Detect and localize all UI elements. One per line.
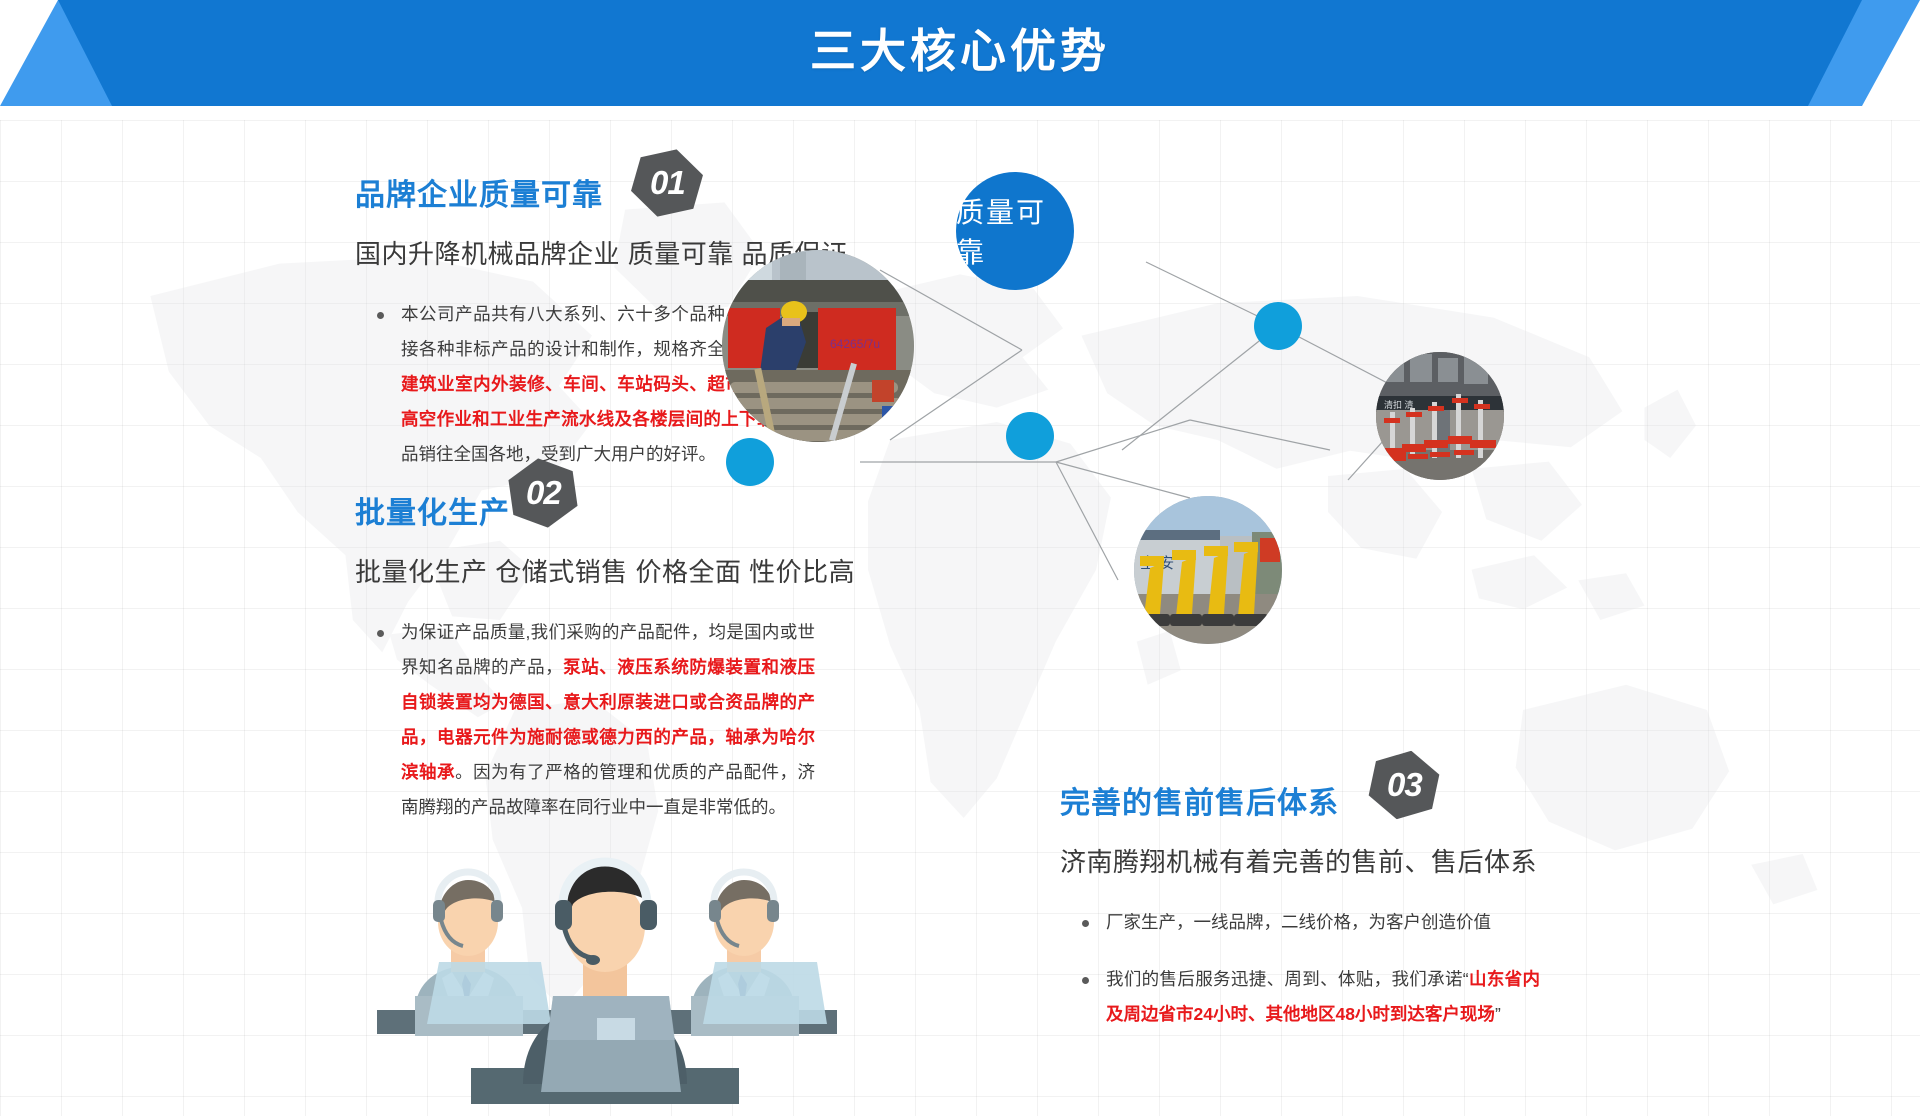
feature-01-subtitle: 国内升降机械品牌企业 质量可靠 品质保证 [355, 234, 815, 271]
photo-yellow-boom-lifts: 全 安 [1134, 496, 1282, 644]
feature-03-subtitle: 济南腾翔机械有着完善的售前、售后体系 [1060, 842, 1540, 879]
node-left-dot [726, 438, 774, 486]
page-root: 三大核心优势 品牌企业质量可靠 01 国内升降机械品牌企业 质量可靠 品质保证 … [0, 0, 1920, 1116]
agent-right [691, 872, 827, 1036]
feature-03-title: 完善的售前售后体系 [1060, 778, 1339, 822]
feature-02-bullets: 为保证产品质量,我们采购的产品配件，均是国内或世界知名品牌的产品，泵站、液压系统… [355, 615, 815, 825]
photo-factory-worker-cutting-machine: 64265/7u [722, 250, 914, 442]
list-item: 厂家生产，一线品牌，二线价格，为客户创造价值 [1060, 905, 1540, 940]
feature-block-02: 批量化生产 02 批量化生产 仓储式销售 价格全面 性价比高 为保证产品质量,我… [355, 488, 815, 847]
customer-service-illustration [355, 800, 855, 1116]
node-mid-dot [1006, 412, 1054, 460]
network-diagram: 质量可靠 64265/7u [860, 150, 1600, 730]
feature-01-badge-number: 01 [650, 164, 685, 202]
feature-02-badge-number: 02 [526, 474, 561, 512]
feature-01-title: 品牌企业质量可靠 [355, 170, 603, 214]
node-quality-label: 质量可靠 [956, 191, 1074, 271]
feature-03-bullets: 厂家生产，一线品牌，二线价格，为客户创造价值 我们的售后服务迅捷、周到、体贴，我… [1060, 905, 1540, 1032]
svg-text:64265/7u: 64265/7u [830, 337, 880, 351]
agent-left [415, 872, 551, 1036]
feature-01-badge: 01 [623, 139, 712, 226]
feature-02-title: 批量化生产 [355, 488, 510, 532]
agent-center [523, 862, 687, 1092]
body-text: ” [1495, 1004, 1501, 1024]
body-text: 我们的售后服务迅捷、周到、体贴，我们承诺“ [1106, 969, 1469, 989]
feature-03-badge: 03 [1362, 743, 1447, 826]
photo-red-lifts-storefront: 清扣 清 [1376, 352, 1504, 480]
feature-02-head: 批量化生产 02 [355, 488, 815, 542]
feature-03-badge-number: 03 [1387, 766, 1422, 804]
feature-block-03: 完善的售前售后体系 03 济南腾翔机械有着完善的售前、售后体系 厂家生产，一线品… [1060, 778, 1540, 1054]
feature-02-subtitle: 批量化生产 仓储式销售 价格全面 性价比高 [355, 552, 815, 589]
svg-text:清扣 清: 清扣 清 [1384, 399, 1414, 410]
feature-01-head: 品牌企业质量可靠 01 [355, 170, 815, 224]
banner-shape [0, 0, 1920, 106]
page-header-banner: 三大核心优势 [0, 0, 1920, 106]
list-item: 为保证产品质量,我们采购的产品配件，均是国内或世界知名品牌的产品，泵站、液压系统… [355, 615, 815, 825]
body-text: 厂家生产，一线品牌，二线价格，为客户创造价值 [1106, 912, 1491, 932]
list-item: 我们的售后服务迅捷、周到、体贴，我们承诺“山东省内及周边省市24小时、其他地区4… [1060, 962, 1540, 1032]
feature-03-head: 完善的售前售后体系 03 [1060, 778, 1540, 832]
node-right-dot [1254, 302, 1302, 350]
node-quality-reliable: 质量可靠 [956, 172, 1074, 290]
